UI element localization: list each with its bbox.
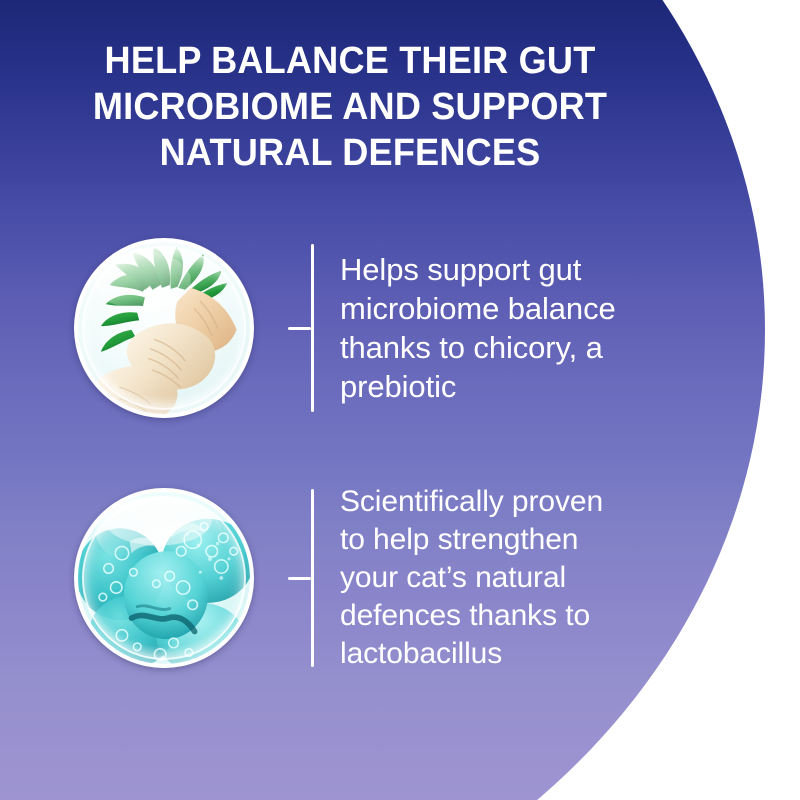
feature2-line-2: to help strengthen: [340, 521, 603, 559]
chicory-root-illustration: [78, 242, 250, 414]
feature2-line-3: your cat’s natural: [340, 559, 603, 597]
headline-line-2: MICROBIOME AND SUPPORT: [18, 84, 683, 130]
headline-line-1: HELP BALANCE THEIR GUT: [18, 38, 683, 84]
page-title: HELP BALANCE THEIR GUT MICROBIOME AND SU…: [18, 38, 683, 176]
feature-description-lactobacillus: Scientifically proven to help strengthen…: [332, 483, 603, 673]
feature-row-lactobacillus: Scientifically proven to help strengthen…: [74, 483, 603, 673]
feature-divider-2: [298, 483, 324, 673]
feature1-line-1: Helps support gut: [340, 250, 616, 289]
feature-row-chicory: Helps support gut microbiome balance tha…: [74, 238, 616, 418]
feature1-line-2: microbiome balance: [340, 289, 616, 328]
divider-vertical-line: [311, 244, 314, 412]
feature2-line-5: lactobacillus: [340, 635, 603, 673]
petri-dish-lactobacillus-icon: [74, 488, 254, 668]
divider-vertical-line: [311, 489, 314, 667]
lactobacillus-illustration: [78, 492, 250, 664]
feature1-line-4: prebiotic: [340, 367, 616, 406]
divider-tick-mark: [288, 577, 311, 580]
petri-dish-chicory-root-icon: [74, 238, 254, 418]
feature-divider-1: [298, 238, 324, 418]
feature-description-chicory: Helps support gut microbiome balance tha…: [332, 250, 616, 406]
feature1-line-3: thanks to chicory, a: [340, 328, 616, 367]
feature2-line-1: Scientifically proven: [340, 483, 603, 521]
headline-line-3: NATURAL DEFENCES: [18, 130, 683, 176]
promo-poster: HELP BALANCE THEIR GUT MICROBIOME AND SU…: [0, 0, 800, 800]
divider-tick-mark: [288, 327, 311, 330]
feature2-line-4: defences thanks to: [340, 597, 603, 635]
